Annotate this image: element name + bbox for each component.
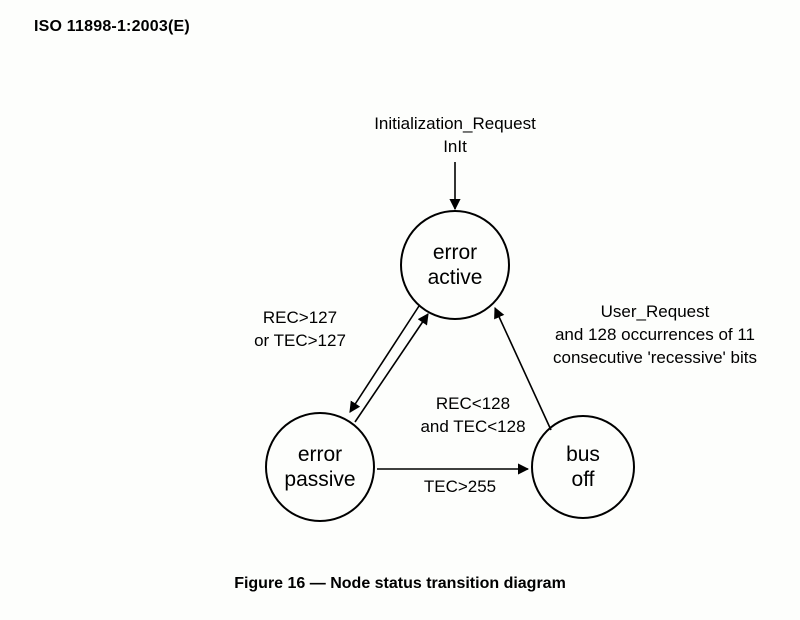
diagram-canvas bbox=[0, 0, 800, 560]
label-active-to-passive-line2: or TEC>127 bbox=[215, 329, 385, 352]
label-busoff-to-active-line1: User_Request bbox=[520, 300, 790, 323]
state-error-active-line2: active bbox=[428, 265, 483, 290]
label-busoff-to-active-line2: and 128 occurrences of 11 bbox=[520, 323, 790, 346]
entry-label-line2: InIt bbox=[355, 135, 555, 158]
entry-label-line1: Initialization_Request bbox=[355, 112, 555, 135]
state-error-passive-line1: error bbox=[298, 442, 342, 467]
state-error-passive[interactable]: error passive bbox=[265, 412, 375, 522]
state-error-active-line1: error bbox=[433, 240, 477, 265]
edge-label-passive-to-active: REC<128 and TEC<128 bbox=[398, 392, 548, 438]
label-busoff-to-active-line3: consecutive 'recessive' bits bbox=[520, 346, 790, 369]
label-active-to-passive-line1: REC>127 bbox=[215, 306, 385, 329]
edge-label-active-to-passive: REC>127 or TEC>127 bbox=[215, 306, 385, 352]
figure-caption: Figure 16 — Node status transition diagr… bbox=[0, 575, 800, 593]
state-error-passive-line2: passive bbox=[284, 467, 355, 492]
state-bus-off-line1: bus bbox=[566, 442, 600, 467]
label-passive-to-active-line1: REC<128 bbox=[398, 392, 548, 415]
state-error-active[interactable]: error active bbox=[400, 210, 510, 320]
label-passive-to-active-line2: and TEC<128 bbox=[398, 415, 548, 438]
edge-label-busoff-to-active: User_Request and 128 occurrences of 11 c… bbox=[520, 300, 790, 369]
page: ISO 11898-1:2003(E) Initialization_Reque… bbox=[0, 0, 800, 620]
state-bus-off-line2: off bbox=[572, 467, 595, 492]
figure-area: Initialization_Request InIt error active… bbox=[0, 0, 800, 560]
label-passive-to-busoff-line1: TEC>255 bbox=[405, 475, 515, 498]
edge-label-initialization-entry: Initialization_Request InIt bbox=[355, 112, 555, 158]
edge-label-passive-to-busoff: TEC>255 bbox=[405, 475, 515, 498]
